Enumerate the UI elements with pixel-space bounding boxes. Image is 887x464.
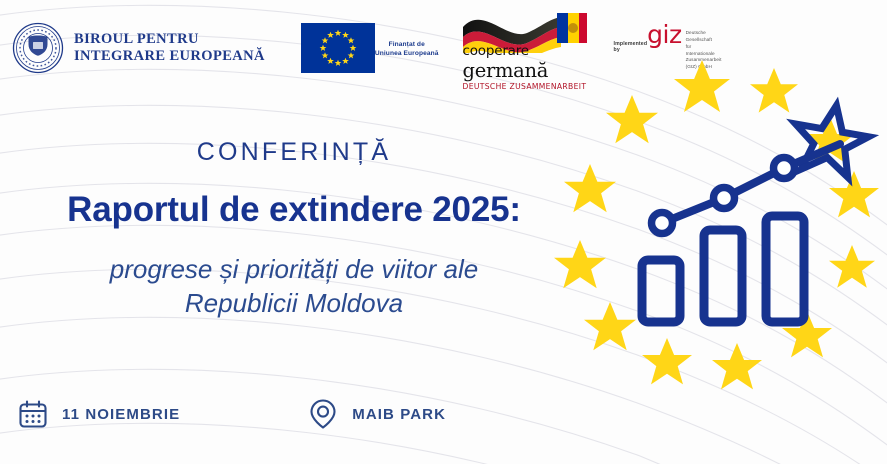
giz-desc-line-1: Deutsche Gesellschaft bbox=[686, 30, 722, 44]
giz-wordmark: giz bbox=[647, 25, 681, 45]
trend-point-2 bbox=[714, 188, 735, 209]
event-venue-label: MAIB PARK bbox=[352, 406, 446, 423]
giz-desc-line-2: für Internationale bbox=[686, 44, 722, 58]
subtitle-line-1: progrese și priorități de viitor ale bbox=[0, 252, 588, 286]
bureau-line-2: Integrare Europeană bbox=[74, 48, 265, 65]
page-subtitle: progrese și priorități de viitor ale Rep… bbox=[0, 252, 588, 321]
eu-caption-line-1: Finanțat de bbox=[375, 41, 439, 49]
bureau-wordmark: Biroul pentru Integrare Europeană bbox=[74, 31, 265, 65]
conference-kicker: CONFERINȚĂ bbox=[0, 138, 588, 167]
subtitle-line-2: Republicii Moldova bbox=[0, 286, 588, 320]
trend-point-1 bbox=[652, 213, 673, 234]
logo-funded-by-eu: Finanțat de Uniunea Europeană bbox=[301, 23, 439, 73]
bar-2 bbox=[704, 230, 742, 322]
coop-line-1: cooperare bbox=[463, 45, 587, 59]
eu-funding-caption: Finanțat de Uniunea Europeană bbox=[375, 41, 439, 57]
trend-point-3 bbox=[774, 158, 795, 179]
european-union-flag bbox=[301, 23, 375, 73]
conference-poster: Biroul pentru Integrare Europeană bbox=[0, 0, 887, 464]
location-pin-icon bbox=[308, 398, 338, 430]
bar-1 bbox=[642, 260, 680, 322]
giz-implemented-by: Implemented by bbox=[614, 41, 648, 53]
event-date-label: 11 NOIEMBRIE bbox=[62, 406, 180, 423]
eu-caption-line-2: Uniunea Europeană bbox=[375, 50, 439, 58]
moldova-coat-of-arms-seal bbox=[12, 22, 64, 74]
bureau-line-1: Biroul pentru bbox=[74, 31, 265, 48]
trend-line bbox=[652, 144, 841, 234]
logo-moldova-european-integration-bureau: Biroul pentru Integrare Europeană bbox=[12, 22, 265, 74]
event-details-footer: 11 NOIEMBRIE MAIB PARK bbox=[18, 398, 446, 430]
growth-chart-with-eu-stars bbox=[552, 58, 887, 458]
bar-3 bbox=[766, 216, 804, 322]
event-date: 11 NOIEMBRIE bbox=[18, 399, 180, 429]
calendar-icon bbox=[18, 399, 48, 429]
event-venue: MAIB PARK bbox=[308, 398, 446, 430]
page-title: Raportul de extindere 2025: bbox=[0, 190, 588, 230]
